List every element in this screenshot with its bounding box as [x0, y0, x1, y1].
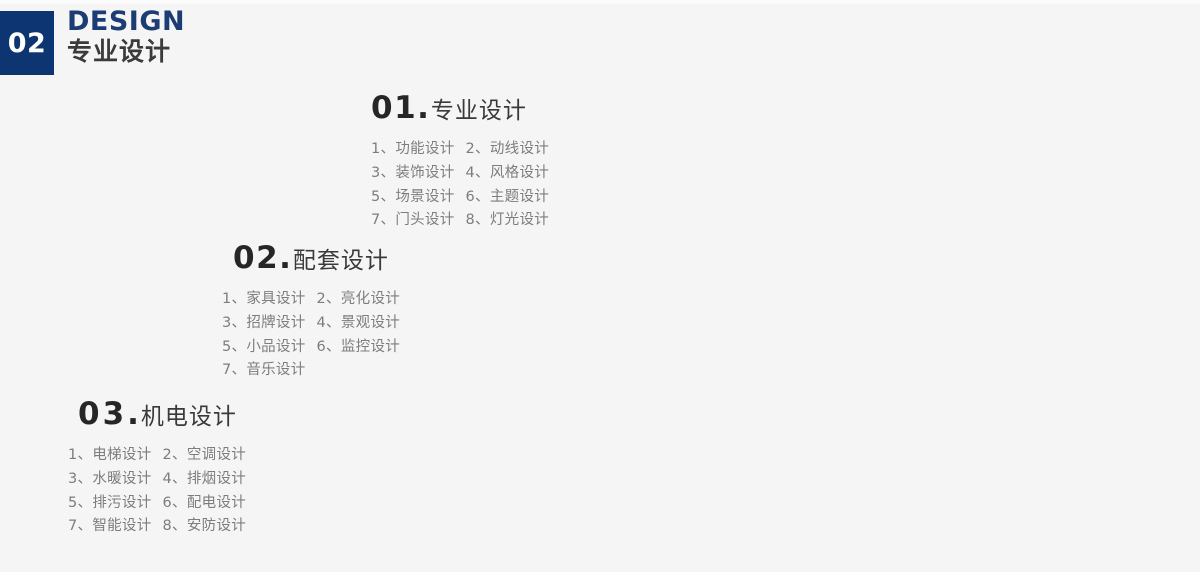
- block-heading: 01.专业设计: [371, 93, 549, 124]
- list-item: 7、智能设计8、安防设计: [68, 515, 246, 539]
- list-item: 7、音乐设计: [222, 359, 400, 383]
- block-heading: 02.配套设计: [233, 243, 400, 274]
- item-cell-right: 4、排烟设计: [163, 468, 247, 492]
- list-item: 1、电梯设计2、空调设计: [68, 444, 246, 468]
- item-cell-right: 6、配电设计: [163, 492, 247, 516]
- item-cell-left: 1、电梯设计: [68, 444, 152, 468]
- block-dot: .: [417, 90, 429, 126]
- list-item: 3、招牌设计4、景观设计: [222, 312, 400, 336]
- block-dot: .: [279, 240, 291, 276]
- item-cell-left: 5、排污设计: [68, 492, 152, 516]
- list-item: 3、装饰设计4、风格设计: [371, 162, 549, 186]
- block-index: 03: [78, 396, 127, 432]
- block-item-list: 1、家具设计2、亮化设计 3、招牌设计4、景观设计 5、小品设计6、监控设计 7…: [222, 288, 400, 383]
- header-text-group: DESIGN 专业设计: [67, 8, 185, 66]
- block-title: 机电设计: [141, 404, 237, 430]
- content-block-03: 03.机电设计 1、电梯设计2、空调设计 3、水暖设计4、排烟设计 5、排污设计…: [78, 399, 246, 539]
- item-cell-right: 6、主题设计: [466, 186, 550, 210]
- block-dot: .: [127, 396, 139, 432]
- item-cell-right: 8、灯光设计: [466, 209, 550, 233]
- block-index: 02: [233, 240, 279, 276]
- list-item: 3、水暖设计4、排烟设计: [68, 468, 246, 492]
- item-cell-right: 2、亮化设计: [317, 288, 401, 312]
- item-cell-right: 4、风格设计: [466, 162, 550, 186]
- block-heading: 03.机电设计: [78, 399, 246, 430]
- list-item: 5、排污设计6、配电设计: [68, 492, 246, 516]
- brand-chinese-title: 专业设计: [67, 38, 185, 66]
- item-cell-right: 6、监控设计: [317, 336, 401, 360]
- content-block-01: 01.专业设计 1、功能设计2、动线设计 3、装饰设计4、风格设计 5、场景设计…: [371, 93, 549, 233]
- block-index: 01: [371, 90, 417, 126]
- block-title: 专业设计: [431, 98, 527, 124]
- list-item: 5、场景设计6、主题设计: [371, 186, 549, 210]
- item-cell-left: 3、招牌设计: [222, 312, 306, 336]
- brand-english-title: DESIGN: [67, 8, 185, 36]
- list-item: 7、门头设计8、灯光设计: [371, 209, 549, 233]
- slide-header: 02 DESIGN 专业设计: [0, 11, 185, 75]
- item-cell-right: 8、安防设计: [163, 515, 247, 539]
- section-number-badge: 02: [0, 11, 54, 75]
- block-item-list: 1、电梯设计2、空调设计 3、水暖设计4、排烟设计 5、排污设计6、配电设计 7…: [68, 444, 246, 539]
- item-cell-left: 3、水暖设计: [68, 468, 152, 492]
- item-cell-right: 2、动线设计: [466, 138, 550, 162]
- item-cell-left: 1、家具设计: [222, 288, 306, 312]
- item-cell-left: 7、音乐设计: [222, 359, 306, 383]
- item-cell-left: 7、门头设计: [371, 209, 455, 233]
- item-cell-left: 5、场景设计: [371, 186, 455, 210]
- item-cell-left: 3、装饰设计: [371, 162, 455, 186]
- slide-root: 02 DESIGN 专业设计 01.专业设计 1、功能设计2、动线设计 3、装饰…: [0, 0, 1200, 572]
- block-title: 配套设计: [293, 248, 389, 274]
- list-item: 1、功能设计2、动线设计: [371, 138, 549, 162]
- block-item-list: 1、功能设计2、动线设计 3、装饰设计4、风格设计 5、场景设计6、主题设计 7…: [371, 138, 549, 233]
- list-item: 1、家具设计2、亮化设计: [222, 288, 400, 312]
- item-cell-right: 4、景观设计: [317, 312, 401, 336]
- item-cell-left: 1、功能设计: [371, 138, 455, 162]
- item-cell-left: 5、小品设计: [222, 336, 306, 360]
- item-cell-left: 7、智能设计: [68, 515, 152, 539]
- list-item: 5、小品设计6、监控设计: [222, 336, 400, 360]
- top-edge-strip: [0, 0, 1200, 4]
- content-block-02: 02.配套设计 1、家具设计2、亮化设计 3、招牌设计4、景观设计 5、小品设计…: [233, 243, 400, 383]
- item-cell-right: 2、空调设计: [163, 444, 247, 468]
